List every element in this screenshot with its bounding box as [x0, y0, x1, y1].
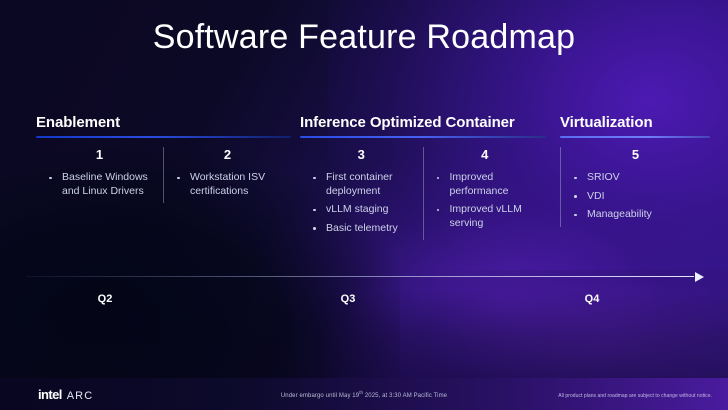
list-item: VDI — [571, 190, 704, 204]
timeline-axis — [26, 276, 704, 278]
column-bullet-list: Baseline Windows and Linux Drivers — [36, 171, 163, 198]
column-number: 2 — [164, 147, 291, 162]
section-underline — [36, 136, 291, 138]
section-title: Virtualization — [560, 114, 710, 131]
roadmap-column: 5 SRIOV VDI Manageability — [561, 147, 710, 227]
list-item: SRIOV — [571, 171, 704, 185]
column-number: 3 — [300, 147, 423, 162]
column-bullet-list: First container deployment vLLM staging … — [300, 171, 423, 235]
list-item: First container deployment — [310, 171, 417, 198]
embargo-prefix: Under embargo until May 19 — [281, 393, 359, 399]
section-title: Enablement — [36, 114, 291, 131]
section-underline — [560, 136, 710, 138]
section-title: Inference Optimized Container — [300, 114, 546, 131]
list-item: Improved performance — [434, 171, 541, 198]
section-inference-optimized-container: Inference Optimized Container 3 First co… — [300, 114, 546, 240]
timeline-label-q2: Q2 — [75, 293, 135, 305]
section-columns: 3 First container deployment vLLM stagin… — [300, 147, 546, 240]
column-number: 1 — [36, 147, 163, 162]
column-bullet-list: SRIOV VDI Manageability — [561, 171, 710, 222]
column-number: 4 — [424, 147, 547, 162]
section-virtualization: Virtualization 5 SRIOV VDI Manageability — [560, 114, 710, 227]
list-item: Manageability — [571, 208, 704, 222]
embargo-suffix: 2025, at 3:30 AM Pacific Time — [363, 393, 447, 399]
section-columns: 5 SRIOV VDI Manageability — [560, 147, 710, 227]
column-number: 5 — [561, 147, 710, 162]
timeline-line — [26, 276, 694, 277]
column-bullet-list: Improved performance Improved vLLM servi… — [424, 171, 547, 230]
arrow-right-icon — [695, 272, 704, 282]
list-item: Baseline Windows and Linux Drivers — [46, 171, 157, 198]
section-enablement: Enablement 1 Baseline Windows and Linux … — [36, 114, 291, 203]
roadmap-column: 4 Improved performance Improved vLLM ser… — [423, 147, 547, 240]
roadmap-column: 2 Workstation ISV certifications — [163, 147, 291, 203]
timeline-label-q3: Q3 — [318, 293, 378, 305]
section-underline — [300, 136, 546, 138]
roadmap-slide: Software Feature Roadmap Enablement 1 Ba… — [0, 0, 728, 410]
column-bullet-list: Workstation ISV certifications — [164, 171, 291, 198]
roadmap-column: 3 First container deployment vLLM stagin… — [300, 147, 423, 240]
list-item: Improved vLLM serving — [434, 203, 541, 230]
page-title: Software Feature Roadmap — [0, 18, 728, 57]
disclaimer-text: All product plans and roadmap are subjec… — [558, 393, 712, 399]
section-columns: 1 Baseline Windows and Linux Drivers 2 W… — [36, 147, 291, 203]
list-item: vLLM staging — [310, 203, 417, 217]
list-item: Workstation ISV certifications — [174, 171, 285, 198]
list-item: Basic telemetry — [310, 222, 417, 236]
roadmap-column: 1 Baseline Windows and Linux Drivers — [36, 147, 163, 203]
timeline-label-q4: Q4 — [562, 293, 622, 305]
